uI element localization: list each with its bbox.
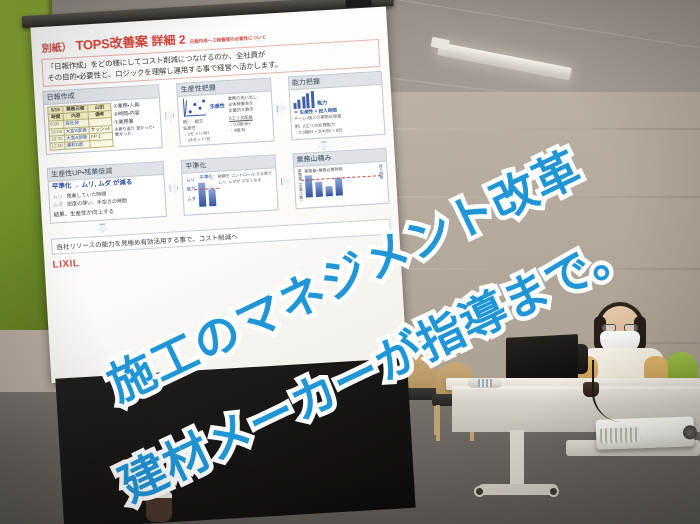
cell-productivity: 生産性把握: [176, 77, 274, 146]
cell-daily-report: 日報作成 5/19 業務日報 山田: [42, 84, 163, 154]
caster-wheel: [548, 486, 559, 497]
cell-leveling: 平準化 ムリ 能力 ムダ 平準化: [181, 154, 278, 216]
photo-scene: 社員 別紙） TOPS改善案 詳細 2 日報作成～工程管理の必要性について: [0, 0, 700, 524]
cell-improvement: 生産性UP・残業低減 平準化 → ムリ, ムダ が減る ムリ 残業していた時間 …: [47, 161, 168, 224]
note-line: 定量的な数字: [228, 106, 268, 114]
daily-report-points: ①業務・人員 ②時間・内容 ③業務量 ④振り返り 良かった・悪かった: [113, 100, 159, 147]
leveling-axis-labels: ムリ 能力 ムダ: [186, 175, 197, 208]
formula-label: 能力: [317, 100, 327, 107]
table-foot: [478, 484, 558, 495]
capacity-bar-chart: [292, 91, 314, 109]
cell-backlog: 業務山積み 業務量（必要工数） 業務量×業務必要時間 投入時間: [292, 147, 389, 209]
cell-time: 12:00: [50, 142, 65, 150]
term: ムダ: [53, 201, 63, 210]
table-leg: [510, 430, 524, 488]
chair-leg: [436, 405, 440, 441]
flow-arrow: [274, 77, 289, 141]
leveling-note: 納期を コントロール する事で ムリ, ムダが 少なくなる: [218, 170, 274, 205]
leveling-bar-chart: [198, 180, 217, 207]
example-name: 組立: [194, 119, 203, 125]
flow-arrow: [167, 160, 181, 217]
slide-title-prefix: 別紙）: [41, 38, 72, 55]
backlog-side-label: 業務量（必要工数）: [297, 168, 304, 202]
slide-title-detail: 詳細 2: [151, 30, 186, 49]
caster-wheel: [474, 486, 485, 497]
backlog-bar-chart: [304, 169, 377, 197]
screen-stand: [55, 358, 415, 524]
cell-note: [90, 139, 113, 148]
point-item: ④振り返り 良かった・悪かった: [114, 124, 158, 137]
floor-cup: [146, 492, 172, 522]
projector-vent: [600, 427, 640, 443]
flow-arrow: [278, 153, 292, 210]
capacity-line: ：4組/日: [230, 126, 270, 134]
axis-label: 投入時間: [378, 164, 385, 198]
bottle: [468, 378, 502, 388]
productivity-scatter-chart: [181, 97, 208, 119]
metric-label: 生産性: [183, 125, 196, 131]
slide-title-sub: 日報作成～工程管理の必要性について: [190, 35, 267, 46]
slide-row-lower: 生産性UP・残業低減 平準化 → ムリ, ムダ が減る ムリ 残業していた時間 …: [47, 147, 390, 223]
projector: [596, 416, 695, 449]
slide-content: 別紙） TOPS改善案 詳細 2 日報作成～工程管理の必要性について 「日報作成…: [30, 7, 406, 383]
projection-screen: 別紙） TOPS改善案 詳細 2 日報作成～工程管理の必要性について 「日報作成…: [24, 0, 411, 389]
flow-arrow: [162, 83, 177, 147]
cell-capacity: 能力把握 能力 ＝ 生産性 × 投入時間 チーム・個人の業務処理量 例）A工リの…: [288, 71, 386, 140]
cell-content: 浦和D邸: [65, 141, 91, 150]
axis-label: ムリ: [186, 175, 195, 185]
flow-arrow-down: [318, 141, 331, 151]
daily-report-table: 5/19 業務日報 山田 時間 内容 備考: [47, 103, 113, 151]
axis-label: ムダ: [187, 194, 196, 204]
slide-title-main: TOPS改善案: [75, 31, 148, 54]
chart-label: 生産性: [210, 103, 225, 111]
flow-arrow-down: [96, 223, 109, 233]
